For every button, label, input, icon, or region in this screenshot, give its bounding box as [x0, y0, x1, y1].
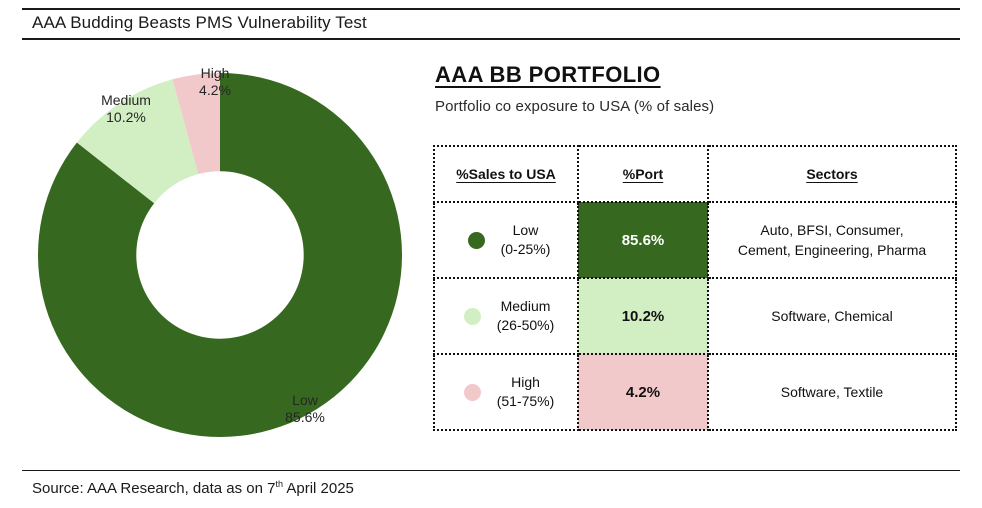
- cell-port-low: 85.6%: [578, 202, 708, 278]
- portfolio-table: %Sales to USA %Port Sectors Low(0-25%)85…: [433, 145, 957, 431]
- category-name: High: [497, 373, 555, 392]
- portfolio-subtitle: Portfolio co exposure to USA (% of sales…: [435, 98, 956, 115]
- donut-label-low: Low 85.6%: [265, 392, 345, 426]
- sectors-line-2: Cement, Engineering, Pharma: [709, 240, 955, 260]
- column-header-sectors: Sectors: [708, 146, 956, 202]
- category-label: High(51-75%): [497, 373, 555, 411]
- footer-rule: [22, 470, 960, 471]
- cell-sectors: Software, Chemical: [708, 278, 956, 354]
- cell-sales-to-usa: High(51-75%): [434, 354, 578, 430]
- column-header-sales-label: %Sales to USA: [456, 166, 556, 182]
- donut-label-low-value: 85.6%: [265, 409, 345, 426]
- column-header-sectors-label: Sectors: [806, 166, 857, 182]
- donut-label-medium: Medium 10.2%: [80, 92, 172, 126]
- cell-sectors: Auto, BFSI, Consumer,Cement, Engineering…: [708, 202, 956, 278]
- portfolio-title: AAA BB PORTFOLIO: [435, 62, 956, 88]
- column-header-port: %Port: [578, 146, 708, 202]
- source-note-prefix: Source: AAA Research, data as on 7: [32, 480, 276, 497]
- column-header-sales: %Sales to USA: [434, 146, 578, 202]
- source-note-ordinal: th: [276, 479, 284, 489]
- category-label: Medium(26-50%): [497, 297, 555, 335]
- category-name: Low: [501, 221, 551, 240]
- column-header-port-label: %Port: [623, 166, 663, 182]
- legend-dot-high-icon: [464, 384, 481, 401]
- table-header-row: %Sales to USA %Port Sectors: [434, 146, 956, 202]
- category-name: Medium: [497, 297, 555, 316]
- donut-label-high: High 4.2%: [180, 65, 250, 99]
- cell-sales-to-usa: Medium(26-50%): [434, 278, 578, 354]
- donut-label-high-value: 4.2%: [180, 82, 250, 99]
- page-title: AAA Budding Beasts PMS Vulnerability Tes…: [32, 12, 367, 34]
- sectors-line-1: Software, Textile: [709, 382, 955, 402]
- donut-label-low-name: Low: [265, 392, 345, 409]
- table-row: High(51-75%)4.2%Software, Textile: [434, 354, 956, 430]
- sectors-line-1: Auto, BFSI, Consumer,: [709, 220, 955, 240]
- sectors-line-1: Software, Chemical: [709, 306, 955, 326]
- source-note-suffix: April 2025: [283, 480, 354, 497]
- cell-sectors: Software, Textile: [708, 354, 956, 430]
- legend-dot-medium-icon: [464, 308, 481, 325]
- donut-label-high-name: High: [180, 65, 250, 82]
- cell-port-medium: 10.2%: [578, 278, 708, 354]
- legend-dot-low-icon: [468, 232, 485, 249]
- category-range: (0-25%): [501, 240, 551, 259]
- source-note: Source: AAA Research, data as on 7th Apr…: [32, 479, 354, 497]
- donut-label-medium-value: 10.2%: [80, 109, 172, 126]
- cell-sales-to-usa: Low(0-25%): [434, 202, 578, 278]
- category-range: (26-50%): [497, 316, 555, 335]
- category-label: Low(0-25%): [501, 221, 551, 259]
- donut-label-medium-name: Medium: [80, 92, 172, 109]
- cell-port-high: 4.2%: [578, 354, 708, 430]
- portfolio-panel: AAA BB PORTFOLIO Portfolio co exposure t…: [433, 62, 956, 115]
- table-row: Medium(26-50%)10.2%Software, Chemical: [434, 278, 956, 354]
- donut-chart-panel: High 4.2% Medium 10.2% Low 85.6%: [20, 55, 420, 455]
- category-range: (51-75%): [497, 392, 555, 411]
- table-row: Low(0-25%)85.6%Auto, BFSI, Consumer,Ceme…: [434, 202, 956, 278]
